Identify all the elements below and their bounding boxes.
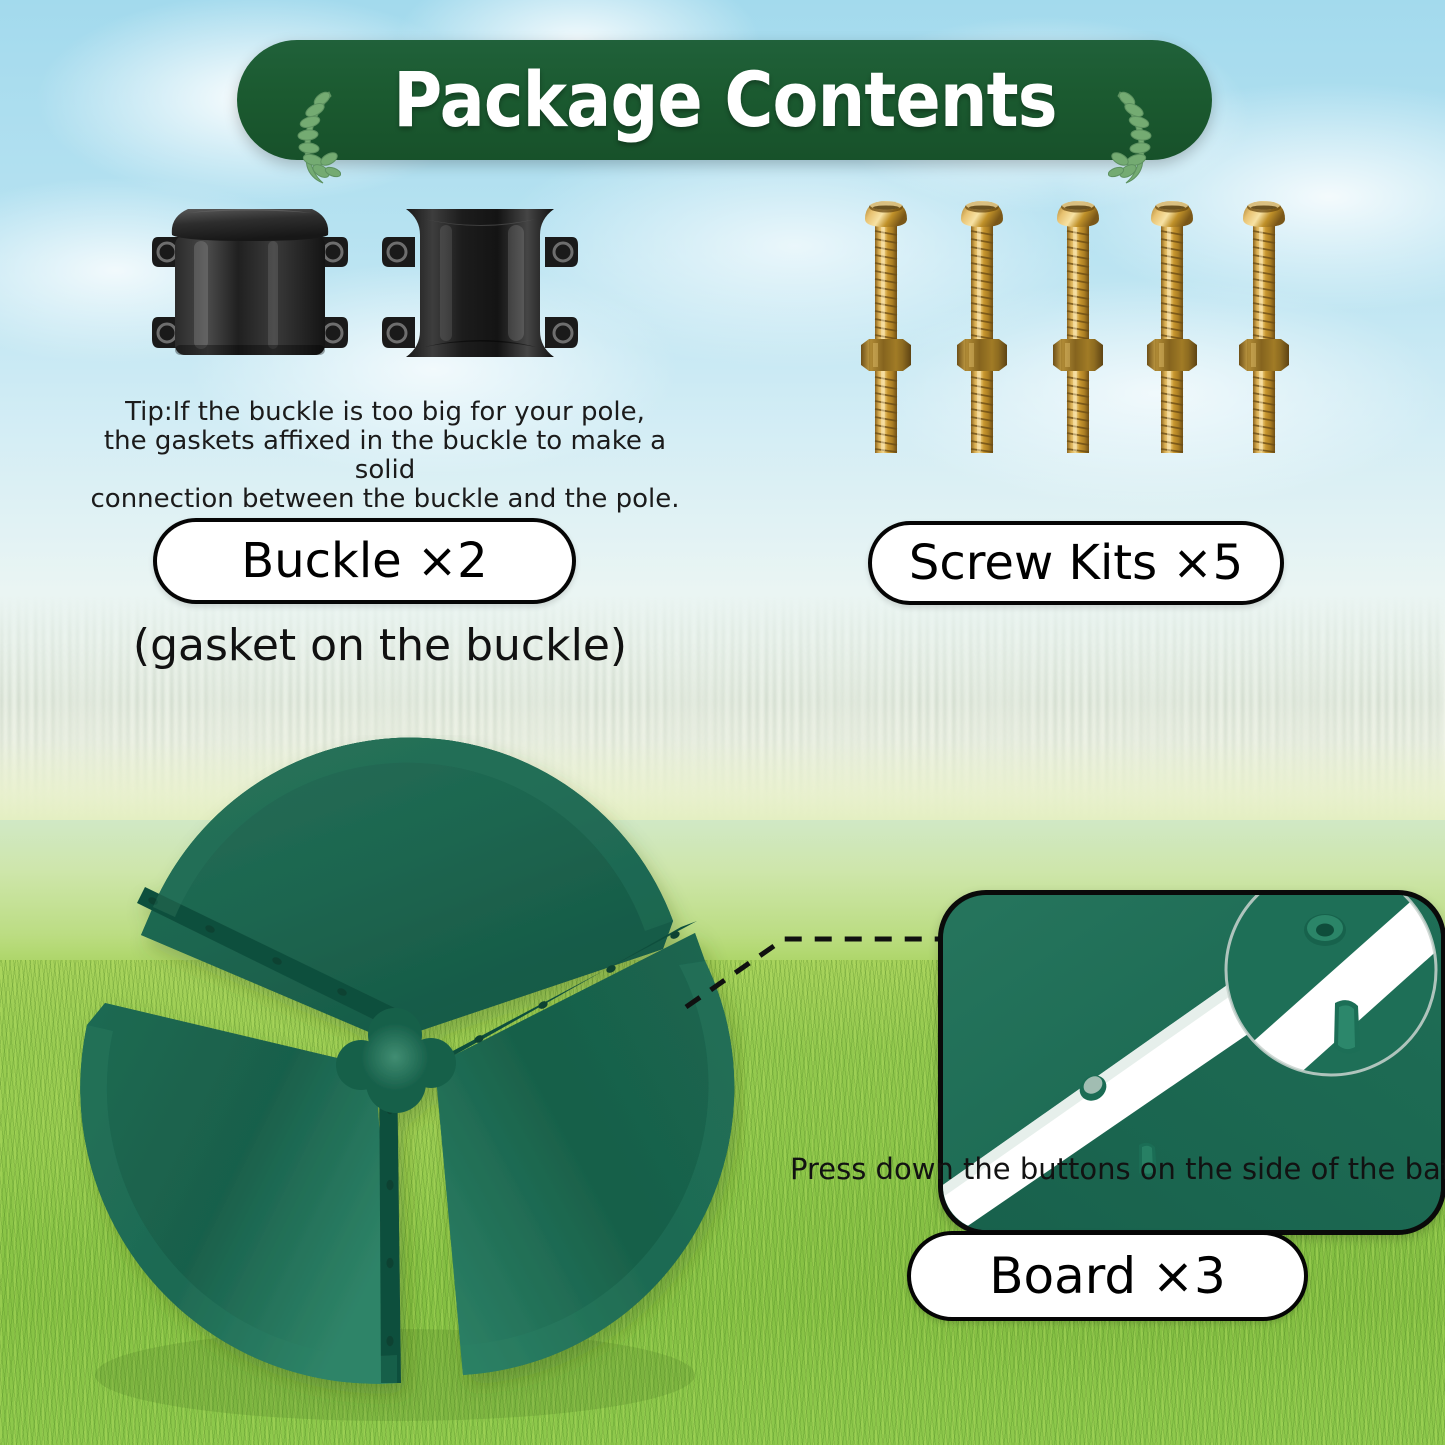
buckle-product-images [150,195,580,370]
callout-connector-line [680,865,960,1015]
screw-icon [1047,195,1109,470]
tip-line-2: the gaskets affixed in the buckle to mak… [75,427,695,485]
screw-kits-label-text: Screw Kits ×5 [909,535,1243,591]
board-label-pill: Board ×3 [907,1231,1308,1321]
tip-line-1: Tip:If the buckle is too big for your po… [75,398,695,427]
buckle-label-text: Buckle ×2 [241,533,487,589]
infographic-canvas: Package Contents [0,0,1445,1445]
page-title: Package Contents [393,62,1056,138]
screw-kits-label-pill: Screw Kits ×5 [868,521,1284,605]
screw-icon [1141,195,1203,470]
laurel-branch-icon [289,86,341,186]
buckle-tip-text: Tip:If the buckle is too big for your po… [75,398,695,514]
screw-product-images [855,195,1285,470]
buckle-label-pill: Buckle ×2 [153,518,576,604]
buckle-dome-half-icon [150,195,350,370]
laurel-branch-icon [1108,86,1160,186]
board-assembly-image [45,735,745,1435]
baffle-caption-text: Press down the buttons on the side of th… [790,1152,1435,1186]
screw-icon [1233,195,1295,470]
gasket-note-text: (gasket on the buckle) [120,620,640,672]
board-label-text: Board ×3 [989,1247,1226,1305]
tip-line-3: connection between the buckle and the po… [75,485,695,514]
screw-icon [951,195,1013,470]
screw-icon [855,195,917,470]
header-banner: Package Contents [237,40,1212,160]
buckle-saddle-half-icon [380,195,580,370]
